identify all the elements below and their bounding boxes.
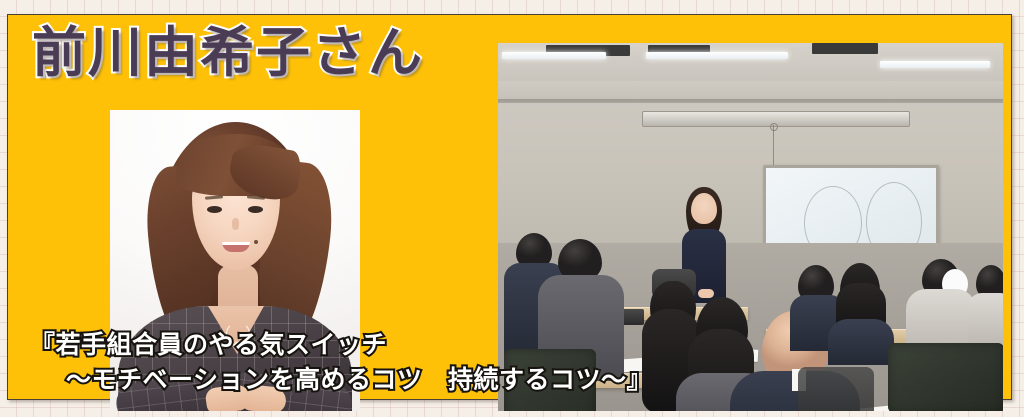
page-title: 前川由希子さん [32, 26, 424, 81]
portrait-mole [254, 240, 258, 244]
attendee-body-7 [906, 289, 976, 351]
portrait-eye-right [248, 206, 263, 213]
portrait-eye-left [207, 206, 222, 213]
session-title-caption: 『若手組合員のやる気スイッチ ～モチベーションを高めるコツ 持続するコツ～』 [30, 328, 670, 398]
portrait-nose [232, 218, 239, 230]
slide-canvas: 前川由希子さん [0, 0, 1024, 417]
mesh-chair-foreground [798, 367, 874, 411]
yellow-content-card: 前川由希子さん [7, 14, 1012, 400]
attendee-body-6 [828, 319, 894, 365]
attendee-body-8 [968, 293, 1003, 345]
caption-line-2: ～モチベーションを高めるコツ 持続するコツ～』 [30, 363, 670, 398]
draped-jacket-right [888, 343, 1003, 411]
caption-line-1: 『若手組合員のやる気スイッチ [30, 328, 670, 363]
